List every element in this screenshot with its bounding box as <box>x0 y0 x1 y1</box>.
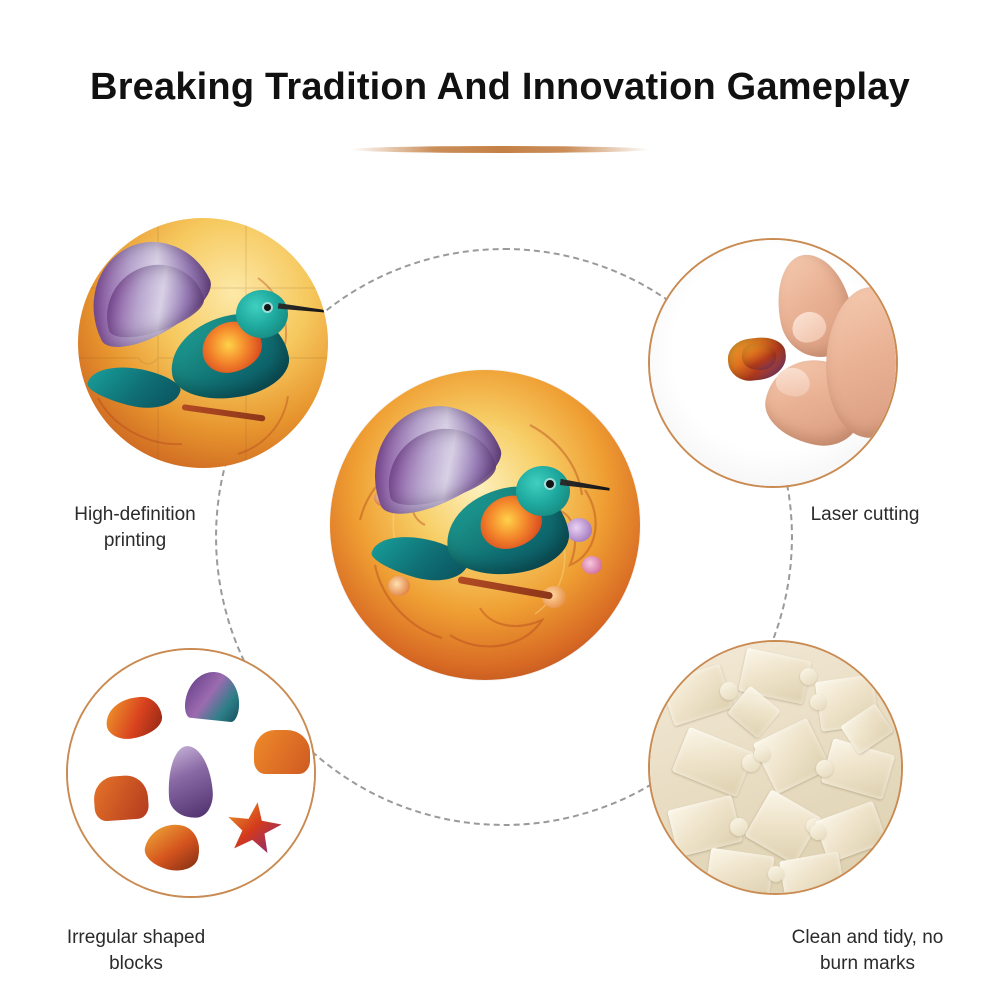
feature-label-clean-no-burn-marks: Clean and tidy, no burn marks <box>735 925 1000 977</box>
puzzle-piece-elephant-2 <box>93 774 150 822</box>
feature-image-irregular-shaped-blocks <box>66 648 316 898</box>
puzzle-piece-elephant <box>254 730 310 774</box>
feature-image-high-definition-printing <box>78 218 328 468</box>
feature-label-irregular-shaped-blocks: Irregular shaped blocks <box>6 925 266 977</box>
feature-label-laser-cutting: Laser cutting <box>740 502 990 528</box>
title-divider <box>350 146 650 153</box>
center-product-image <box>330 370 640 680</box>
page-title: Breaking Tradition And Innovation Gamepl… <box>0 66 1000 109</box>
promo-graphic: Breaking Tradition And Innovation Gamepl… <box>0 0 1000 1000</box>
feature-image-clean-no-burn-marks <box>648 640 903 895</box>
feature-label-high-definition-printing: High-definition printing <box>10 502 260 554</box>
feature-image-laser-cutting <box>648 238 898 488</box>
